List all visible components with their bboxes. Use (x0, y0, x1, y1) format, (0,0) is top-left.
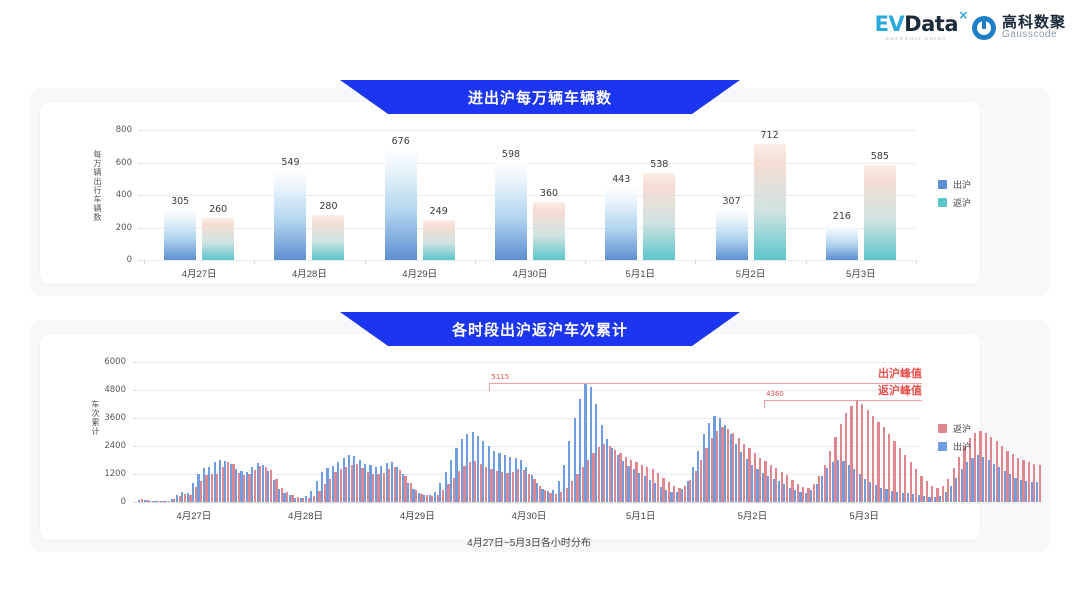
legend-item-出沪[interactable]: 出沪 (938, 178, 971, 191)
y-tick-label: 0 (96, 255, 132, 265)
y-tick-label: 6000 (90, 357, 126, 367)
gausscode-name-en: Gausscode (1002, 30, 1066, 41)
bar-group: 307712 (695, 130, 805, 260)
x-tick-mark (254, 260, 255, 264)
bar-value-label: 360 (540, 188, 558, 199)
x-tick-mark (144, 260, 145, 264)
x-tick-label: 4月30日 (512, 508, 547, 522)
x-tick-label: 4月30日 (475, 266, 585, 280)
bar-返沪[interactable]: 538 (643, 173, 675, 260)
x-tick-label: 4月28日 (288, 508, 323, 522)
x-tick-label: 5月1日 (585, 266, 695, 280)
gausscode-mark-icon (972, 16, 996, 40)
evdata-tagline: SHANGHAI CHINA (886, 37, 947, 42)
x-tick-label: 5月3日 (806, 266, 916, 280)
hourly-chart-plot: 4月27日~5月3日各小时分布 0120024003600480060004月2… (138, 362, 920, 502)
x-tick-mark (806, 260, 807, 264)
x-tick-label: 4月29日 (365, 266, 475, 280)
y-tick-mark (133, 362, 137, 363)
legend-label: 返沪 (953, 422, 971, 435)
bar-出沪[interactable]: 598 (495, 163, 527, 260)
bar-group: 549280 (254, 130, 364, 260)
y-tick-label: 200 (96, 223, 132, 233)
bar-出沪[interactable]: 307 (716, 210, 748, 260)
bar-value-label: 598 (502, 149, 520, 160)
x-tick-label: 5月2日 (695, 266, 805, 280)
x-tick-label: 5月3日 (849, 508, 879, 522)
evdata-name: Data (904, 12, 958, 36)
y-tick-label: 4800 (90, 385, 126, 395)
bar-value-label: 216 (833, 211, 851, 222)
y-tick-mark (133, 474, 137, 475)
hourly-chart-y-axis-label: 车次累计 (90, 400, 101, 470)
evdata-logo: EVData× SHANGHAI CHINA (875, 14, 958, 42)
out-peak-line (489, 383, 922, 384)
legend-item-返沪[interactable]: 返沪 (938, 196, 971, 209)
bar-出沪[interactable]: 676 (385, 150, 417, 260)
y-tick-mark (139, 228, 143, 229)
y-tick-label: 2400 (90, 441, 126, 451)
y-tick-label: 600 (96, 158, 132, 168)
hour-slot[interactable] (1036, 362, 1041, 502)
logo-group: EVData× SHANGHAI CHINA 高科数聚 Gausscode (875, 14, 1066, 42)
bar-value-label: 249 (430, 206, 448, 217)
y-tick-mark (139, 163, 143, 164)
evdata-wordmark: EVData× (875, 14, 958, 35)
y-tick-label: 0 (90, 497, 126, 507)
x-tick-mark (475, 260, 476, 264)
bar-返沪[interactable]: 360 (533, 202, 565, 261)
legend-label: 返沪 (953, 196, 971, 209)
bar-group: 305260 (144, 130, 254, 260)
legend-item-出沪[interactable]: 出沪 (938, 440, 971, 453)
out-peak-label: 出沪峰值 (878, 365, 922, 381)
y-tick-label: 3600 (90, 413, 126, 423)
bar-value-label: 443 (612, 174, 630, 185)
evdata-prefix: EV (875, 12, 905, 36)
hourly-chart-legend: 返沪出沪 (938, 422, 971, 453)
evdata-superscript-icon: × (958, 9, 968, 21)
hourly-chart-x-axis-line (138, 502, 920, 503)
y-tick-mark (139, 130, 143, 131)
daily-chart-plot: 02004006008003052604月27日5492804月28日67624… (144, 130, 916, 260)
y-tick-mark (139, 195, 143, 196)
gridline (144, 260, 916, 261)
bar-出沪[interactable]: 549 (274, 171, 306, 260)
bar-group: 598360 (475, 130, 585, 260)
page-header: EVData× SHANGHAI CHINA 高科数聚 Gausscode (0, 0, 1080, 62)
y-tick-mark (139, 260, 143, 261)
back-peak-label: 返沪峰值 (878, 382, 922, 398)
bar-group: 676249 (365, 130, 475, 260)
x-tick-mark (695, 260, 696, 264)
legend-label: 出沪 (953, 178, 971, 191)
y-tick-mark (133, 390, 137, 391)
gausscode-logo: 高科数聚 Gausscode (972, 15, 1066, 41)
bar-value-label: 549 (281, 157, 299, 168)
x-tick-label: 5月2日 (738, 508, 768, 522)
out-peak-tick (489, 383, 490, 391)
daily-chart-title-banner: 进出沪每万辆车辆数 (340, 80, 740, 114)
bar-value-label: 676 (392, 136, 410, 147)
x-tick-label: 4月28日 (254, 266, 364, 280)
daily-chart-legend: 出沪返沪 (938, 178, 971, 209)
bar-group: 216585 (806, 130, 916, 260)
y-tick-label: 400 (96, 190, 132, 200)
legend-swatch-icon (938, 424, 947, 433)
x-tick-mark (365, 260, 366, 264)
x-tick-label: 4月27日 (176, 508, 211, 522)
legend-label: 出沪 (953, 440, 971, 453)
x-tick-label: 5月1日 (626, 508, 656, 522)
y-tick-mark (133, 502, 137, 503)
hourly-chart-x-axis-title: 4月27日~5月3日各小时分布 (138, 534, 920, 549)
bar-返沪 (1039, 465, 1041, 502)
back-peak-value: 4360 (766, 390, 784, 398)
bar-返沪[interactable]: 280 (312, 215, 344, 261)
bar-value-label: 538 (650, 159, 668, 170)
y-tick-mark (133, 418, 137, 419)
x-tick-mark (916, 260, 917, 264)
out-peak-value: 5115 (491, 373, 509, 381)
hourly-chart-title-banner: 各时段出沪返沪车次累计 (340, 312, 740, 346)
bar-value-label: 280 (319, 201, 337, 212)
bar-value-label: 260 (209, 204, 227, 215)
y-tick-mark (133, 446, 137, 447)
bar-value-label: 585 (871, 151, 889, 162)
x-tick-label: 4月27日 (144, 266, 254, 280)
bar-value-label: 305 (171, 196, 189, 207)
x-tick-mark (585, 260, 586, 264)
bar-group: 443538 (585, 130, 695, 260)
bar-返沪[interactable]: 585 (864, 165, 896, 260)
bar-出沪[interactable]: 305 (164, 210, 196, 260)
bar-value-label: 307 (722, 196, 740, 207)
gausscode-text: 高科数聚 Gausscode (1002, 15, 1066, 41)
bar-返沪[interactable]: 260 (202, 218, 234, 260)
bar-出沪[interactable]: 216 (826, 225, 858, 260)
bar-value-label: 712 (760, 130, 778, 141)
legend-swatch-icon (938, 442, 947, 451)
back-peak-line (764, 400, 922, 401)
y-tick-label: 800 (96, 125, 132, 135)
legend-swatch-icon (938, 198, 947, 207)
legend-swatch-icon (938, 180, 947, 189)
bar-出沪[interactable]: 443 (605, 188, 637, 260)
legend-item-返沪[interactable]: 返沪 (938, 422, 971, 435)
bar-返沪[interactable]: 249 (423, 220, 455, 260)
y-tick-label: 1200 (90, 469, 126, 479)
gausscode-name-cn: 高科数聚 (1002, 15, 1066, 31)
x-tick-label: 4月29日 (400, 508, 435, 522)
bar-返沪[interactable]: 712 (754, 144, 786, 260)
back-peak-tick (764, 400, 765, 408)
